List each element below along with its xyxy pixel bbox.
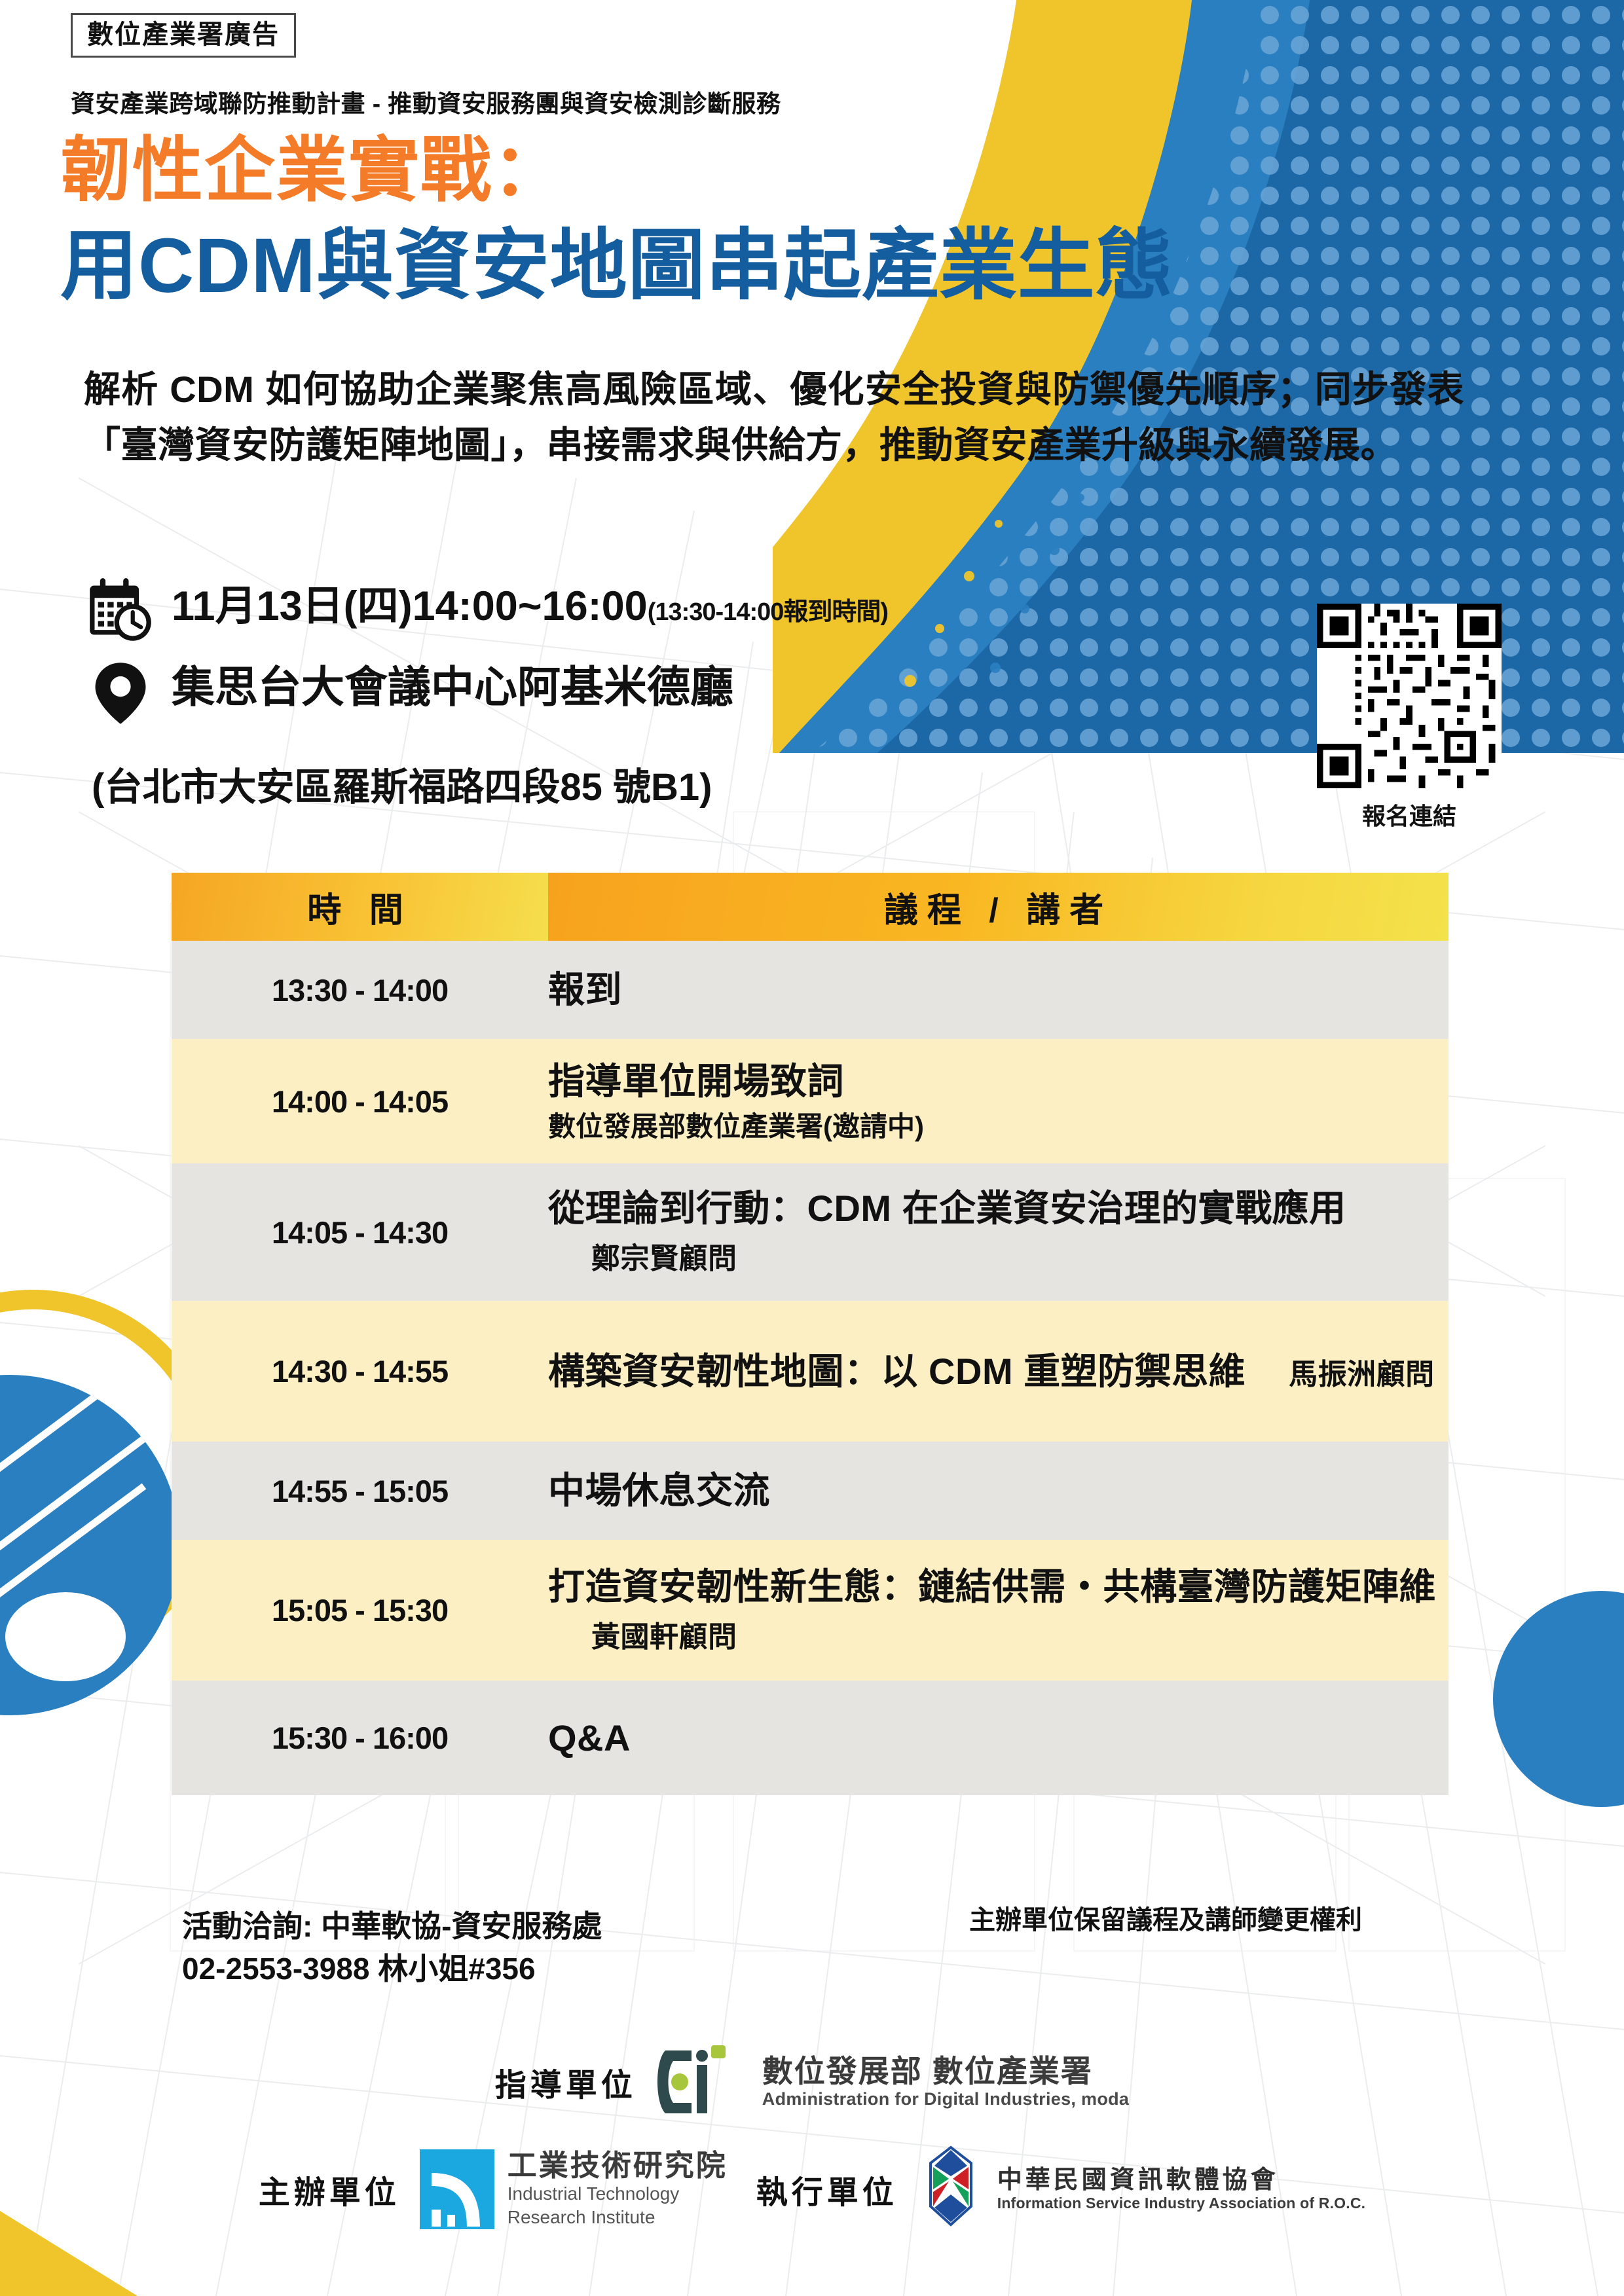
agenda-row-topic-cell: 報到: [548, 941, 1449, 1039]
agenda-row-speaker: 馬振洲顧問: [1289, 1357, 1435, 1393]
agenda-row-topic: 報到: [548, 966, 1449, 1013]
agenda-row-time: 15:05 - 15:30: [172, 1540, 548, 1681]
agenda-row-topic: 指導單位開場致詞: [548, 1058, 1449, 1105]
agenda-row-topic: Q&A: [548, 1715, 1449, 1762]
event-datetime-main: 11月13日(四)14:00~16:00: [172, 583, 648, 629]
page-title-line1: 韌性企業實戰：: [60, 131, 564, 210]
moda-logo-text: 數位發展部 數位產業署 Administration for Digital I…: [762, 2054, 1129, 2109]
disclaimer-note: 主辦單位保留議程及講師變更權利: [969, 1899, 1362, 1937]
ad-tag-badge: 數位產業署廣告: [71, 13, 296, 58]
agenda-row-topic-cell: 從理論到行動：CDM 在企業資安治理的實戰應用鄭宗賢顧問: [548, 1163, 1449, 1301]
event-datetime: 11月13日(四)14:00~16:00(13:30-14:00報到時間): [172, 576, 888, 629]
guidance-unit-row: 指導單位 數位發展部 數位產業署 Administration for Digi…: [0, 2043, 1624, 2121]
agenda-row: 15:30 - 16:00Q&A: [172, 1681, 1449, 1795]
agenda-row: 14:00 - 14:05指導單位開場致詞數位發展部數位產業署(邀請中): [172, 1039, 1449, 1163]
host-unit-label: 主辦單位: [259, 2166, 400, 2212]
cisa-name-zh: 中華民國資訊軟體協會: [997, 2166, 1366, 2195]
event-poster: 數位產業署廣告 資安產業跨域聯防推動計畫 - 推動資安服務團與資安檢測診斷服務 …: [0, 0, 1624, 2296]
cisa-logo: 中華民國資訊軟體協會 Information Service Industry …: [915, 2143, 1366, 2235]
agenda-table: 時 間 議程 / 講者 13:30 - 14:00報到14:00 - 14:05…: [172, 873, 1449, 1795]
calendar-clock-icon: [86, 576, 155, 644]
agenda-row-topic: 從理論到行動：CDM 在企業資安治理的實戰應用鄭宗賢顧問: [548, 1185, 1449, 1279]
agenda-row: 13:30 - 14:00報到: [172, 941, 1449, 1039]
agenda-row-topic: 中場休息交流: [548, 1467, 1449, 1514]
contact-info: 活動洽詢: 中華軟協-資安服務處 02-2553-3988 林小姐#356: [182, 1905, 602, 1991]
cisa-name-en: Information Service Industry Association…: [997, 2195, 1366, 2212]
program-subtitle: 資安產業跨域聯防推動計畫 - 推動資安服務團與資安檢測診斷服務: [71, 84, 781, 119]
cisa-logo-text: 中華民國資訊軟體協會 Information Service Industry …: [997, 2166, 1366, 2213]
agenda-header-topic: 議程 / 講者: [548, 873, 1449, 941]
host-exec-unit-row: 主辦單位 工業技術研究院 Industrial Technology Resea…: [0, 2143, 1624, 2235]
contact-line-1: 活動洽詢: 中華軟協-資安服務處: [182, 1905, 602, 1948]
contact-line-2: 02-2553-3988 林小姐#356: [182, 1948, 602, 1990]
right-circle-graphic: [1493, 1591, 1624, 1807]
agenda-row: 14:30 - 14:55構築資安韌性地圖：以 CDM 重塑防禦思維馬振洲顧問: [172, 1301, 1449, 1442]
event-info-block: 11月13日(四)14:00~16:00(13:30-14:00報到時間) 集思…: [86, 576, 1278, 727]
cisa-logo-icon: [915, 2143, 987, 2235]
agenda-header-row: 時 間 議程 / 講者: [172, 873, 1449, 941]
agenda-row-topic: 構築資安韌性地圖：以 CDM 重塑防禦思維馬振洲顧問: [548, 1348, 1449, 1395]
agenda-row-time: 14:05 - 14:30: [172, 1163, 548, 1301]
itri-name-en-1: Industrial Technology: [507, 2182, 728, 2206]
agenda-row-time: 14:55 - 15:05: [172, 1442, 548, 1540]
agenda-row-speaker: 鄭宗賢顧問: [591, 1241, 737, 1277]
venue-row: 集思台大會議中心阿基米德廳: [86, 659, 1278, 727]
date-row: 11月13日(四)14:00~16:00(13:30-14:00報到時間): [86, 576, 1278, 644]
agenda-row: 14:55 - 15:05中場休息交流: [172, 1442, 1449, 1540]
agenda-row-topic-text: 指導單位開場致詞: [548, 1058, 844, 1105]
agenda-row-topic: 打造資安韌性新生態：鏈結供需・共構臺灣防護矩陣維黃國軒顧問: [548, 1563, 1449, 1657]
agenda-row-topic-text: Q&A: [548, 1715, 631, 1762]
agenda-row-topic-cell: 打造資安韌性新生態：鏈結供需・共構臺灣防護矩陣維黃國軒顧問: [548, 1540, 1449, 1681]
itri-name-zh: 工業技術研究院: [507, 2149, 728, 2182]
moda-name-zh: 數位發展部 數位產業署: [762, 2054, 1129, 2089]
registration-qr-block[interactable]: 報名連結: [1311, 604, 1507, 831]
agenda-row-subtitle: 數位發展部數位產業署(邀請中): [548, 1109, 1449, 1145]
event-address: (台北市大安區羅斯福路四段85 號B1): [92, 756, 712, 811]
agenda-row-topic-text: 中場休息交流: [548, 1467, 770, 1514]
qr-code-icon[interactable]: [1317, 604, 1502, 788]
event-description: 解析 CDM 如何協助企業聚焦高風險區域、優化安全投資與防禦優先順序；同步發表「…: [84, 361, 1464, 473]
agenda-row-topic-cell: 中場休息交流: [548, 1442, 1449, 1540]
agenda-row-topic-cell: Q&A: [548, 1681, 1449, 1795]
page-title-line2: 用CDM與資安地圖串起產業生態: [60, 223, 1173, 309]
moda-name-en: Administration for Digital Industries, m…: [762, 2089, 1129, 2109]
agenda-row-time: 15:30 - 16:00: [172, 1681, 548, 1795]
agenda-row-topic-cell: 構築資安韌性地圖：以 CDM 重塑防禦思維馬振洲顧問: [548, 1301, 1449, 1442]
agenda-row-time: 14:00 - 14:05: [172, 1039, 548, 1163]
exec-unit-label: 執行單位: [756, 2166, 898, 2212]
agenda-row-topic-text: 構築資安韌性地圖：以 CDM 重塑防禦思維: [548, 1348, 1246, 1395]
map-pin-icon: [86, 659, 155, 727]
agenda-row-topic-text: 報到: [548, 966, 622, 1013]
agenda-header-time: 時 間: [172, 873, 548, 941]
agenda-row: 15:05 - 15:30打造資安韌性新生態：鏈結供需・共構臺灣防護矩陣維黃國軒…: [172, 1540, 1449, 1681]
agenda-row: 14:05 - 14:30從理論到行動：CDM 在企業資安治理的實戰應用鄭宗賢顧…: [172, 1163, 1449, 1301]
agenda-row-topic-cell: 指導單位開場致詞數位發展部數位產業署(邀請中): [548, 1039, 1449, 1163]
qr-label: 報名連結: [1311, 797, 1507, 831]
agenda-row-topic-text: 從理論到行動：CDM 在企業資安治理的實戰應用: [548, 1185, 1346, 1232]
moda-logo: 數位發展部 數位產業署 Administration for Digital I…: [654, 2043, 1129, 2121]
itri-logo: 工業技術研究院 Industrial Technology Research I…: [417, 2147, 728, 2232]
agenda-row-time: 14:30 - 14:55: [172, 1301, 548, 1442]
itri-logo-text: 工業技術研究院 Industrial Technology Research I…: [507, 2149, 728, 2229]
event-checkin-note: (13:30-14:00報到時間): [648, 598, 888, 626]
guidance-unit-label: 指導單位: [495, 2059, 637, 2105]
event-venue: 集思台大會議中心阿基米德廳: [172, 659, 733, 712]
itri-logo-icon: [417, 2147, 497, 2232]
agenda-row-speaker: 黃國軒顧問: [591, 1619, 737, 1656]
itri-name-en-2: Research Institute: [507, 2206, 728, 2229]
agenda-row-topic-text: 打造資安韌性新生態：鏈結供需・共構臺灣防護矩陣維: [548, 1563, 1436, 1611]
agenda-row-time: 13:30 - 14:00: [172, 941, 548, 1039]
adi-logo-icon: [654, 2043, 752, 2121]
sponsor-logos: 指導單位 數位發展部 數位產業署 Administration for Digi…: [0, 2043, 1624, 2235]
agenda-body: 13:30 - 14:00報到14:00 - 14:05指導單位開場致詞數位發展…: [172, 941, 1449, 1795]
